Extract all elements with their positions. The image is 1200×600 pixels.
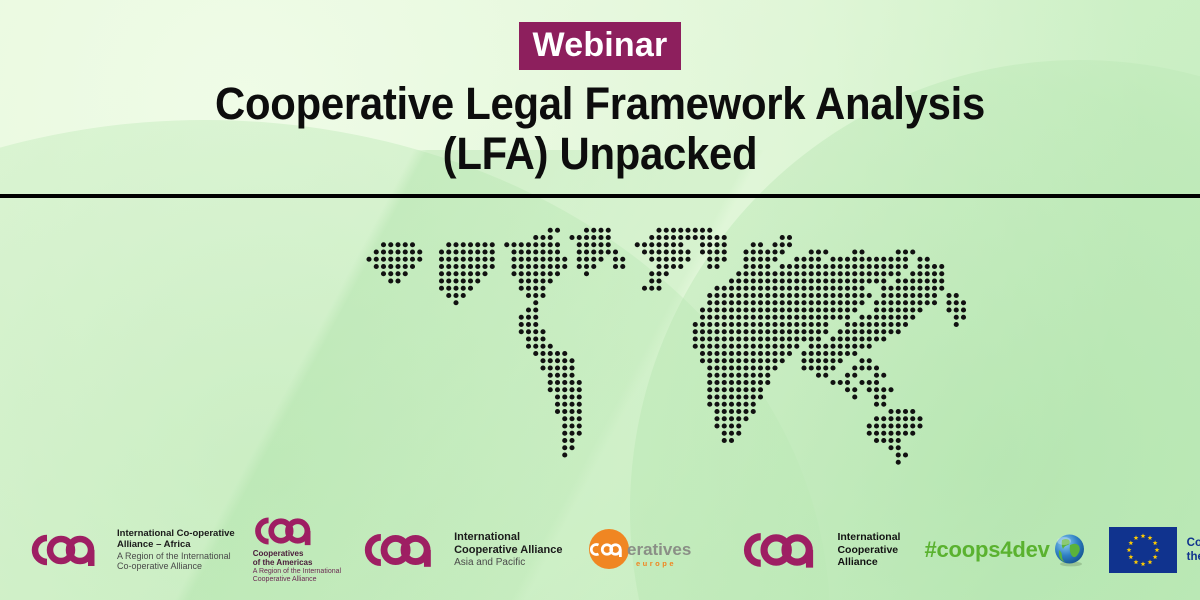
logo-international-cooperative-alliance: International Cooperative Alliance xyxy=(742,531,900,569)
badge-row: Webinar xyxy=(0,22,1200,70)
coop-mark-icon xyxy=(253,516,323,546)
eu-funding-text: Co-funded by the European Union xyxy=(1187,536,1200,565)
logo-line-1: International xyxy=(454,531,562,544)
logo-line-2: Cooperative xyxy=(837,544,900,556)
header-divider xyxy=(0,194,1200,198)
title-line-1: Cooperative Legal Framework Analysis xyxy=(42,79,1158,129)
page-title: Cooperative Legal Framework Analysis (LF… xyxy=(42,79,1158,180)
logo-cooperatives-europe: eratives europe xyxy=(588,529,720,571)
coop-mark-icon xyxy=(30,533,108,567)
logo-line-2: Cooperative Alliance xyxy=(454,544,562,557)
logo-line-3: Alliance xyxy=(837,556,900,568)
logo-line-3: Asia and Pacific xyxy=(454,557,562,569)
svg-text:eratives: eratives xyxy=(627,540,691,559)
partner-logo-strip: International Co-operative Alliance – Af… xyxy=(0,500,1200,600)
logo-coops4dev: #coops4dev xyxy=(924,533,1086,567)
coop-mark-icon xyxy=(363,532,445,568)
world-map xyxy=(0,205,1200,495)
cooperatives-europe-icon: eratives europe xyxy=(588,529,720,571)
logo-ica-africa: International Co-operative Alliance – Af… xyxy=(30,528,235,572)
webinar-badge: Webinar xyxy=(519,22,682,70)
webinar-banner: Webinar Cooperative Legal Framework Anal… xyxy=(0,0,1200,600)
logo-line-4: Cooperative Alliance xyxy=(253,576,341,584)
logo-text: Cooperatives of the Americas A Region of… xyxy=(253,549,341,584)
eu-line-1: Co-funded by xyxy=(1187,536,1200,550)
logo-text: International Cooperative Alliance Asia … xyxy=(454,531,562,569)
logo-line-1: International xyxy=(837,531,900,543)
coops4dev-hashtag: #coops4dev xyxy=(924,537,1049,563)
coop-mark-icon xyxy=(742,531,828,569)
logo-line-4: Co-operative Alliance xyxy=(117,561,235,572)
logo-line-2: Alliance – Africa xyxy=(117,539,235,550)
banner-header: Webinar Cooperative Legal Framework Anal… xyxy=(0,0,1200,196)
logo-eu-funding: Co-funded by the European Union xyxy=(1109,527,1200,573)
logo-ica-asia-pacific: International Cooperative Alliance Asia … xyxy=(363,531,562,569)
logo-line-1: International Co-operative xyxy=(117,528,235,539)
logo-text: International Co-operative Alliance – Af… xyxy=(117,528,235,572)
logo-text: International Cooperative Alliance xyxy=(837,531,900,568)
logo-line-3: A Region of the International xyxy=(117,551,235,562)
eu-flag-icon xyxy=(1109,527,1177,573)
globe-icon xyxy=(1053,533,1087,567)
svg-text:europe: europe xyxy=(636,559,676,568)
logo-line-2: of the Americas xyxy=(253,558,341,567)
eu-line-2: the European Union xyxy=(1187,550,1200,564)
title-line-2: (LFA) Unpacked xyxy=(42,129,1158,179)
logo-cooperatives-americas: Cooperatives of the Americas A Region of… xyxy=(253,516,341,584)
dotted-world-map-icon xyxy=(0,205,1200,495)
logo-line-3: A Region of the International xyxy=(253,568,341,576)
logo-line-1: Cooperatives xyxy=(253,549,341,558)
